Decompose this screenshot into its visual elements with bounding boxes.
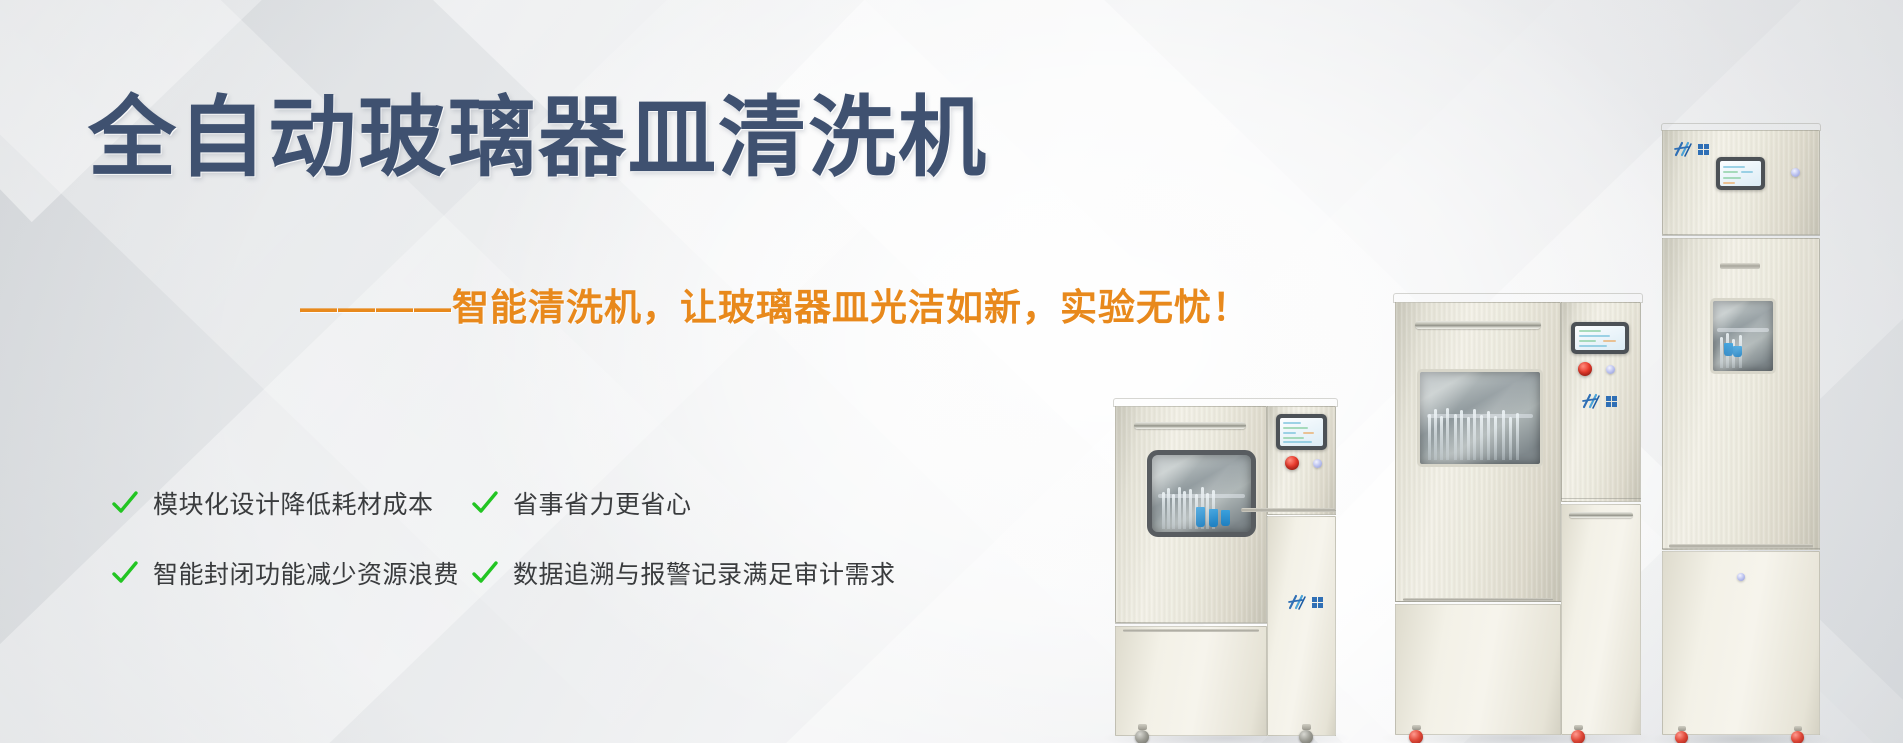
lower-drawer-panel	[1395, 604, 1561, 735]
product-image-undercounter-washer	[1393, 293, 1643, 743]
door-handle	[1415, 321, 1541, 329]
power-indicator-button[interactable]	[1313, 459, 1322, 468]
door-handle	[1134, 422, 1246, 429]
caster-wheel	[1571, 725, 1585, 743]
control-column-lower	[1267, 516, 1336, 736]
caster-wheel	[1791, 726, 1804, 743]
emergency-stop-button[interactable]	[1578, 362, 1592, 376]
drawer-handle	[1569, 512, 1633, 518]
window-glare	[1420, 372, 1540, 464]
viewing-window	[1147, 450, 1256, 537]
door-handle	[1720, 263, 1760, 269]
machine-door-body	[1662, 238, 1820, 550]
product-image-tall-column-washer	[1661, 123, 1821, 743]
brand-h-logo	[1673, 141, 1709, 157]
product-images	[0, 0, 1903, 743]
window-glare	[1713, 301, 1773, 371]
product-banner: 全自动玻璃器皿清洗机 ————智能清洗机，让玻璃器皿光洁如新，实验无忧！ 模块化…	[0, 0, 1903, 743]
touchscreen-display[interactable]	[1571, 322, 1629, 354]
caster-wheel	[1675, 726, 1688, 743]
lower-drawer-panel	[1115, 626, 1267, 736]
viewing-window	[1710, 298, 1776, 374]
touchscreen-display[interactable]	[1716, 157, 1765, 190]
window-glare	[1152, 455, 1251, 532]
caster-wheel	[1409, 725, 1423, 743]
power-indicator-button[interactable]	[1606, 365, 1615, 374]
brand-h-logo	[1581, 393, 1617, 409]
caster-wheel	[1299, 724, 1313, 743]
brand-h-logo	[1287, 594, 1323, 610]
cabinet-lock-button[interactable]	[1737, 573, 1745, 581]
power-indicator-button[interactable]	[1791, 168, 1800, 177]
viewing-window	[1417, 369, 1543, 467]
product-image-benchtop-washer	[1113, 398, 1338, 743]
caster-wheel	[1135, 724, 1149, 743]
emergency-stop-button[interactable]	[1285, 456, 1299, 470]
touchscreen-display[interactable]	[1276, 414, 1327, 450]
control-column-lower-drawer	[1561, 504, 1641, 735]
